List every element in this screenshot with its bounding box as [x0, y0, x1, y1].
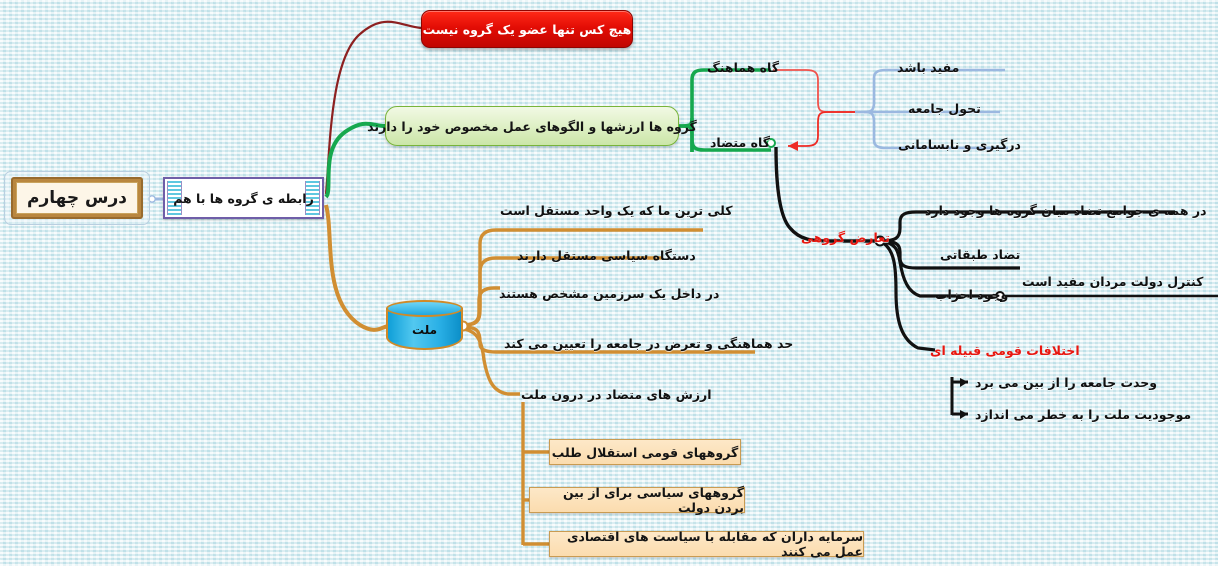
green-child-opposed[interactable]: گاه متضاد: [710, 135, 770, 150]
group-conflict-child-4-sub-2[interactable]: موجودیت ملت را به خطر می اندازد: [975, 407, 1191, 422]
green-statement-label: گروه ها ارزشها و الگوهای عمل مخصوص خود ر…: [367, 119, 697, 134]
green-child-harmonious[interactable]: گاه هماهنگ: [707, 60, 779, 75]
nation-child-4[interactable]: حد هماهنگی و تعرض در جامعه را تعیین می ک…: [504, 336, 793, 351]
conflict-group-political[interactable]: گروههای سیاسی برای از بین بردن دولت: [529, 487, 745, 513]
outcome-conflict-disorder[interactable]: درگیری و نابسامانی: [898, 137, 1021, 152]
conflict-group-ethnic-separatist[interactable]: گروههای قومی استقلال طلب: [549, 439, 741, 465]
group-conflict-child-4-sub-1[interactable]: وحدت جامعه را از بین می برد: [975, 375, 1157, 390]
root-title: درس چهارم: [27, 188, 127, 208]
nation-child-1[interactable]: کلی ترین ما که یک واحد مستقل است: [500, 203, 732, 218]
nation-child-5[interactable]: ارزش های متضاد در درون ملت: [521, 387, 712, 402]
conflict-group-capitalists[interactable]: سرمایه داران که مقابله با سیاست های اقتص…: [549, 531, 864, 557]
group-conflict-title[interactable]: تعارض گروهی: [801, 230, 890, 245]
nation-child-2[interactable]: دستگاه سیاسی مستقل دارند: [517, 248, 696, 263]
red-statement-node[interactable]: هیچ کس تنها عضو یک گروه نیست: [421, 10, 633, 48]
outcome-useful[interactable]: مفید باشد: [897, 60, 959, 75]
nation-cylinder-node[interactable]: ملت: [386, 300, 463, 350]
group-conflict-child-3-sub[interactable]: کنترل دولت مردان مفید است: [1022, 274, 1203, 289]
frame-mat: درس چهارم: [16, 182, 138, 214]
mindmap-canvas: درس چهارم رابطه ی گروه ها با هم هیچ کس ت…: [0, 0, 1218, 566]
frame-ornament: درس چهارم: [11, 177, 143, 219]
outcome-social-change[interactable]: تحول جامعه: [908, 101, 981, 116]
nation-label: ملت: [386, 317, 463, 343]
cylinder-top: [386, 300, 463, 317]
group-conflict-child-1[interactable]: در همه ی جوامع تضاد میان گروه ها وجود دا…: [925, 203, 1207, 218]
group-conflict-child-4[interactable]: اختلافات قومی قبیله ای: [930, 343, 1080, 358]
group-conflict-child-3[interactable]: وجود احزاب: [935, 287, 1008, 302]
green-statement-node[interactable]: گروه ها ارزشها و الگوهای عمل مخصوص خود ر…: [385, 106, 679, 146]
center-node-notebook[interactable]: رابطه ی گروه ها با هم: [163, 177, 324, 219]
group-conflict-child-2[interactable]: تضاد طبقاتی: [940, 247, 1020, 262]
root-node-frame[interactable]: درس چهارم: [4, 171, 150, 225]
center-title: رابطه ی گروه ها با هم: [173, 191, 314, 206]
red-statement-label: هیچ کس تنها عضو یک گروه نیست: [423, 22, 632, 37]
nation-child-3[interactable]: در داخل یک سرزمین مشخص هستند: [499, 286, 719, 301]
